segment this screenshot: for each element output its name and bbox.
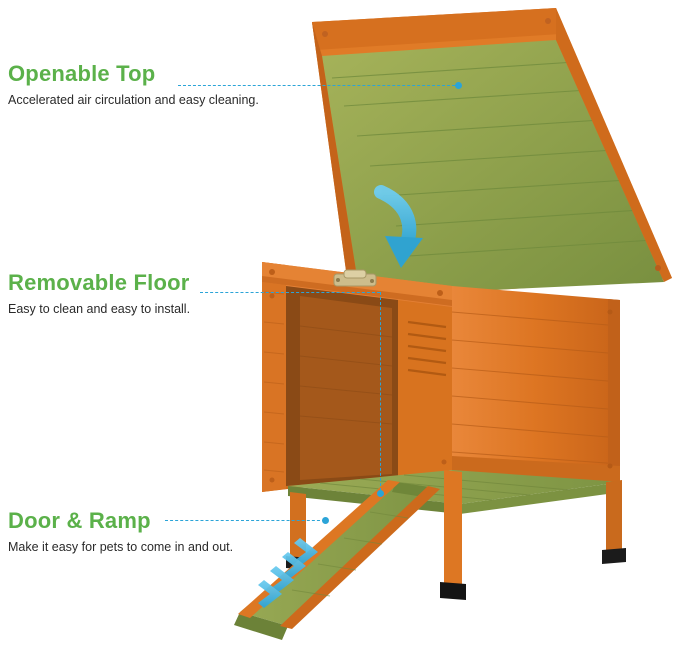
annotation-removable-floor-title: Removable Floor (8, 271, 190, 295)
leader-dot-door-ramp (322, 517, 329, 524)
annotation-door-ramp-subtitle: Make it easy for pets to come in and out… (8, 540, 233, 554)
annotation-openable-top: Openable Top Accelerated air circulation… (8, 62, 259, 107)
house-right-side-panel (452, 286, 620, 482)
annotation-door-ramp-title: Door & Ramp (8, 509, 233, 533)
annotation-removable-floor-subtitle: Easy to clean and easy to install. (8, 302, 190, 316)
leader-dot-removable-floor (377, 490, 384, 497)
open-door-panel (286, 288, 300, 486)
annotation-openable-top-subtitle: Accelerated air circulation and easy cle… (8, 93, 259, 107)
ramp (234, 480, 440, 640)
annotation-openable-top-title: Openable Top (8, 62, 259, 86)
annotation-door-ramp: Door & Ramp Make it easy for pets to com… (8, 509, 233, 554)
product-feature-illustration: Openable Top Accelerated air circulation… (0, 0, 679, 648)
leader-line-removable-floor-vertical (380, 292, 381, 496)
leader-line-removable-floor (200, 292, 380, 293)
leader-dot-openable-top (455, 82, 462, 89)
annotation-removable-floor: Removable Floor Easy to clean and easy t… (8, 271, 190, 316)
openable-roof-lid (312, 8, 672, 300)
